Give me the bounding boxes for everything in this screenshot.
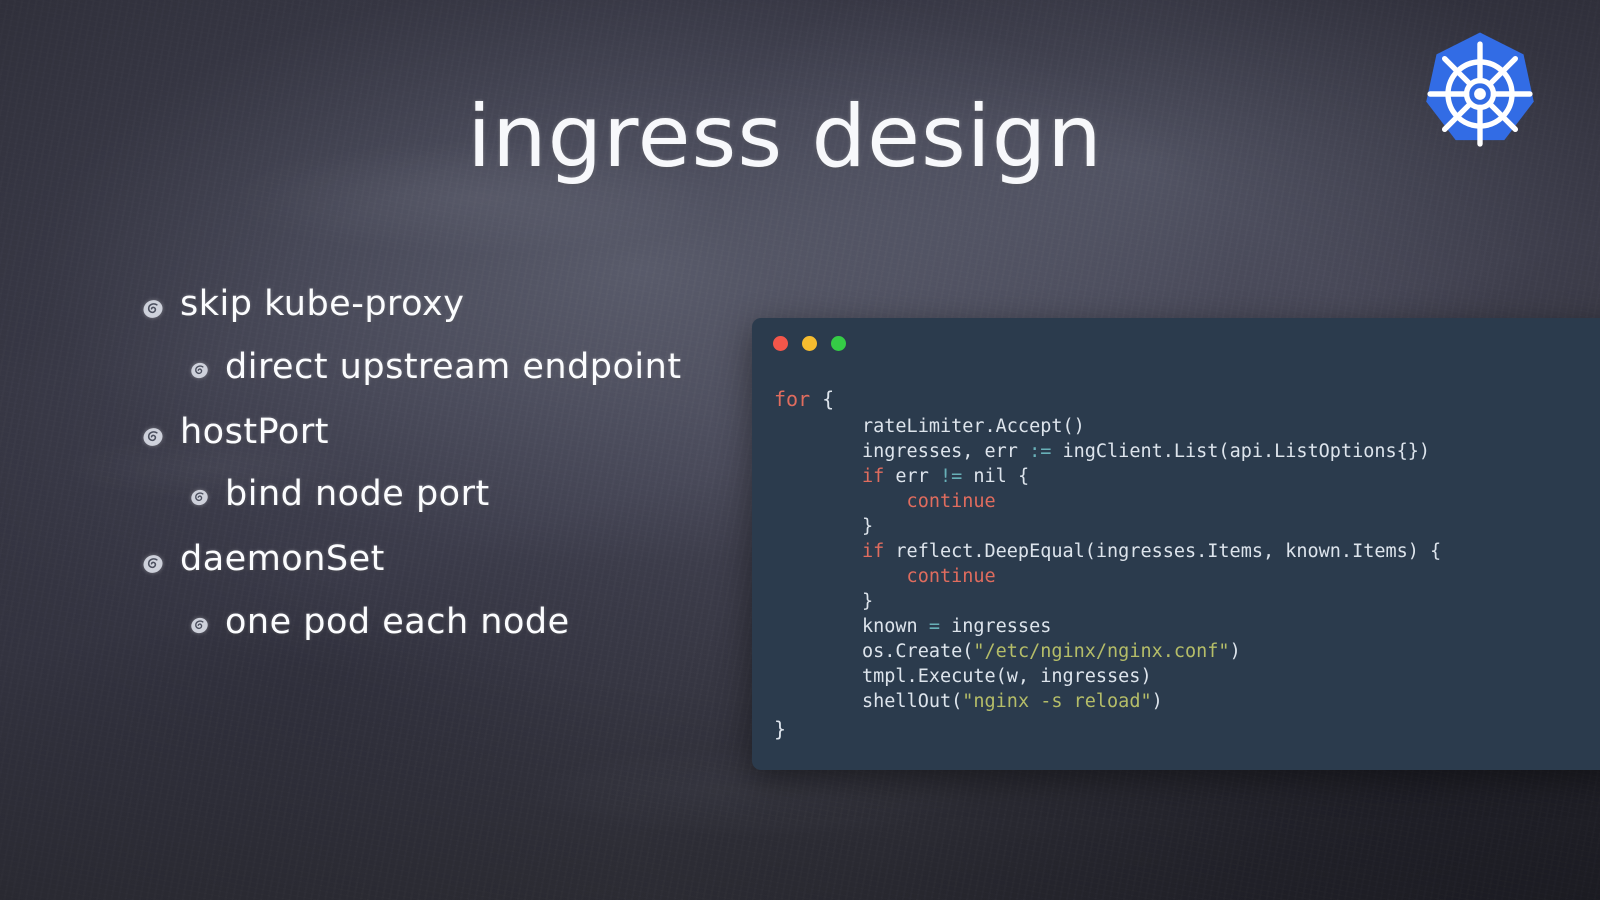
page-title: ingress design bbox=[0, 94, 1570, 180]
code-token-str: "nginx -s reload" bbox=[962, 691, 1151, 712]
spiral-bullet-icon bbox=[190, 361, 209, 380]
code-token-kw: if bbox=[862, 541, 884, 562]
close-button[interactable] bbox=[773, 336, 788, 351]
code-line: } bbox=[752, 589, 1600, 614]
bullet-label: one pod each node bbox=[225, 604, 570, 641]
bullet-label: daemonSet bbox=[180, 541, 385, 578]
code-line: if err != nil { bbox=[752, 464, 1600, 489]
spiral-bullet-icon bbox=[142, 553, 164, 575]
code-token-pl: { bbox=[810, 387, 834, 411]
spiral-bullet-icon bbox=[142, 426, 164, 448]
maximize-button[interactable] bbox=[831, 336, 846, 351]
code-line: known = ingresses bbox=[752, 614, 1600, 639]
code-line: shellOut("nginx -s reload") bbox=[752, 689, 1600, 714]
code-token-kw: if bbox=[862, 466, 884, 487]
code-token-pl: } bbox=[774, 717, 786, 741]
code-line: tmpl.Execute(w, ingresses) bbox=[752, 664, 1600, 689]
bullet-item: bind node port bbox=[190, 476, 742, 513]
bullet-item: skip kube-proxy bbox=[142, 286, 742, 323]
code-token-pl: ) bbox=[1152, 691, 1163, 712]
kubernetes-logo-icon bbox=[1416, 30, 1544, 158]
code-token-pl: ingClient.List(api.ListOptions{}) bbox=[1051, 441, 1430, 462]
code-token-pl: err bbox=[884, 466, 940, 487]
code-token-pl: known bbox=[862, 616, 929, 637]
code-token-pl: } bbox=[862, 591, 873, 612]
code-line: os.Create("/etc/nginx/nginx.conf") bbox=[752, 639, 1600, 664]
code-line: rateLimiter.Accept() bbox=[752, 414, 1600, 439]
code-line: } bbox=[752, 514, 1600, 539]
code-token-pl: ingresses bbox=[940, 616, 1051, 637]
code-window-titlebar bbox=[752, 318, 1600, 368]
bullet-label: direct upstream endpoint bbox=[225, 349, 682, 386]
code-token-kw: continue bbox=[862, 566, 996, 587]
spiral-bullet-icon bbox=[190, 488, 209, 507]
code-token-pl: ) bbox=[1230, 641, 1241, 662]
bullet-item: daemonSet bbox=[142, 541, 742, 578]
code-token-op: = bbox=[929, 616, 940, 637]
code-token-pl: shellOut( bbox=[862, 691, 962, 712]
k8s-hub bbox=[1474, 88, 1486, 100]
code-token-str: "/etc/nginx/nginx.conf" bbox=[973, 641, 1229, 662]
code-line: ingresses, err := ingClient.List(api.Lis… bbox=[752, 439, 1600, 464]
code-line: for { bbox=[752, 384, 1600, 414]
code-token-pl: reflect.DeepEqual(ingresses.Items, known… bbox=[884, 541, 1441, 562]
bullet-label: hostPort bbox=[180, 414, 329, 451]
bullet-item: direct upstream endpoint bbox=[190, 349, 742, 386]
code-token-pl: ingresses, err bbox=[862, 441, 1029, 462]
code-token-pl: } bbox=[862, 516, 873, 537]
code-block: for {rateLimiter.Accept()ingresses, err … bbox=[752, 368, 1600, 744]
bullet-item: hostPort bbox=[142, 414, 742, 451]
code-token-pl: os.Create( bbox=[862, 641, 973, 662]
bullet-label: bind node port bbox=[225, 476, 490, 513]
code-token-pl: tmpl.Execute(w, ingresses) bbox=[862, 666, 1152, 687]
code-token-kw: for bbox=[774, 387, 810, 411]
code-token-pl: rateLimiter.Accept() bbox=[862, 416, 1085, 437]
code-token-pl: nil { bbox=[962, 466, 1029, 487]
code-line: if reflect.DeepEqual(ingresses.Items, kn… bbox=[752, 539, 1600, 564]
minimize-button[interactable] bbox=[802, 336, 817, 351]
spiral-bullet-icon bbox=[190, 616, 209, 635]
code-line: } bbox=[752, 714, 1600, 744]
code-token-op: := bbox=[1029, 441, 1051, 462]
slide-canvas: ingress design bbox=[0, 0, 1600, 900]
code-token-op: != bbox=[940, 466, 962, 487]
bullet-item: one pod each node bbox=[190, 604, 742, 641]
code-window: for {rateLimiter.Accept()ingresses, err … bbox=[752, 318, 1600, 770]
bullet-list: skip kube-proxydirect upstream endpointh… bbox=[142, 286, 742, 669]
bullet-label: skip kube-proxy bbox=[180, 286, 464, 323]
code-line: continue bbox=[752, 489, 1600, 514]
code-line: continue bbox=[752, 564, 1600, 589]
kubernetes-logo bbox=[1416, 30, 1544, 158]
code-token-kw: continue bbox=[862, 491, 996, 512]
spiral-bullet-icon bbox=[142, 298, 164, 320]
